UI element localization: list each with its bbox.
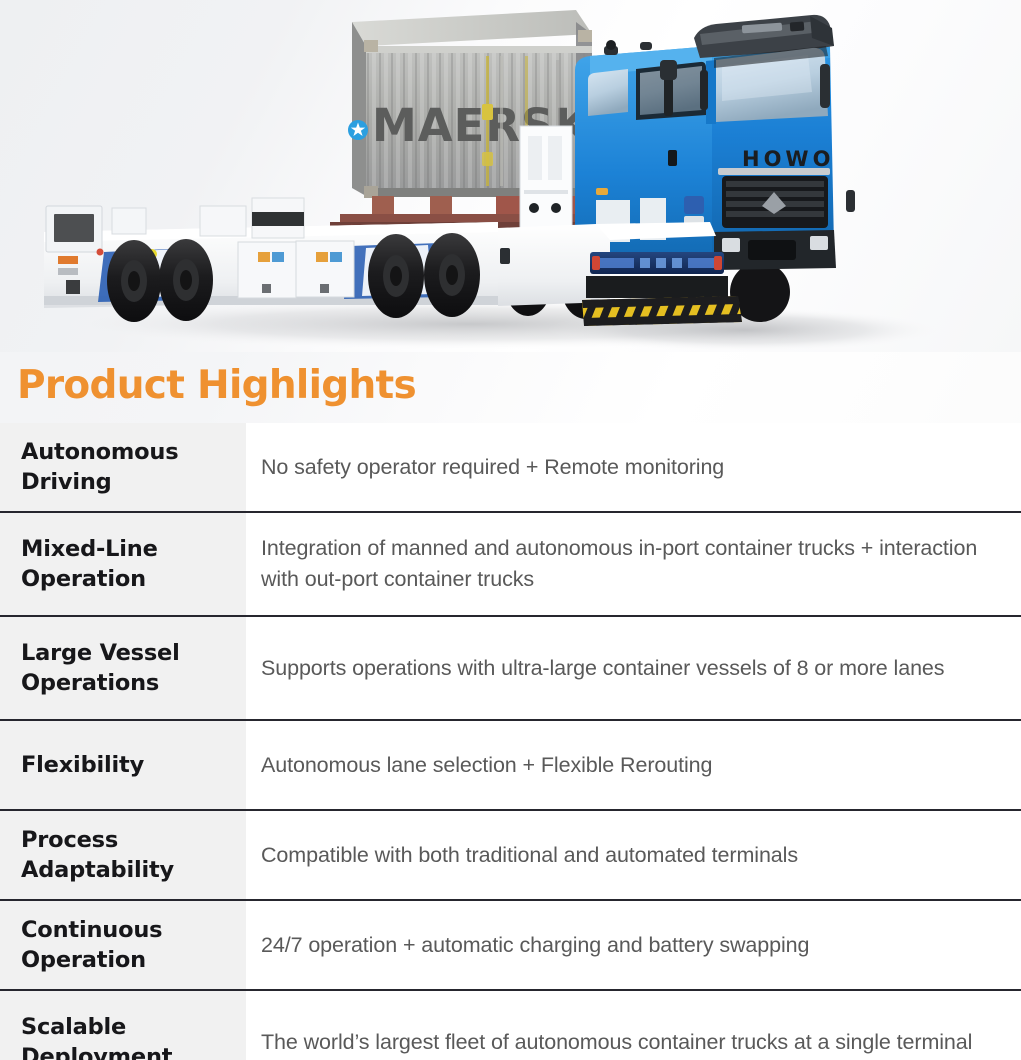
- highlight-label-cell: Flexibility: [0, 721, 246, 809]
- highlight-desc-cell: Integration of manned and autonomous in-…: [246, 513, 1021, 615]
- product-highlights-page: MAERSK: [0, 0, 1021, 1060]
- highlight-desc: No safety operator required + Remote mon…: [261, 452, 724, 483]
- highlight-label: Large Vessel Operations: [21, 638, 236, 698]
- hero-truck-image: MAERSK: [0, 0, 1021, 352]
- table-row: Flexibility Autonomous lane selection + …: [0, 721, 1021, 811]
- highlight-label-cell: Large Vessel Operations: [0, 617, 246, 719]
- table-row: Autonomous Driving No safety operator re…: [0, 423, 1021, 513]
- cab-brand-badge: HOWO: [742, 147, 834, 171]
- highlight-desc-cell: 24/7 operation + automatic charging and …: [246, 901, 1021, 989]
- table-row: Process Adaptability Compatible with bot…: [0, 811, 1021, 901]
- highlight-label: Process Adaptability: [21, 825, 236, 885]
- highlight-label: Mixed-Line Operation: [21, 534, 236, 594]
- highlight-desc: The world’s largest fleet of autonomous …: [261, 1027, 972, 1058]
- equipment-cabinet: [520, 126, 572, 234]
- highlight-label: Scalable Deployment: [21, 1012, 236, 1060]
- highlight-label: Autonomous Driving: [21, 437, 236, 497]
- highlight-desc: Compatible with both traditional and aut…: [261, 840, 798, 871]
- battery-cabinets: [238, 241, 354, 298]
- highlight-label-cell: Autonomous Driving: [0, 423, 246, 511]
- maersk-logo: [348, 120, 368, 140]
- highlight-label: Flexibility: [21, 750, 144, 780]
- highlight-desc: Integration of manned and autonomous in-…: [261, 533, 1007, 595]
- front-grille: [718, 168, 830, 228]
- product-highlights-table: Autonomous Driving No safety operator re…: [0, 423, 1021, 1060]
- table-row: Scalable Deployment The world’s largest …: [0, 991, 1021, 1060]
- table-row: Large Vessel Operations Supports operati…: [0, 617, 1021, 721]
- highlight-desc-cell: Supports operations with ultra-large con…: [246, 617, 1021, 719]
- right-mirror: [820, 64, 830, 108]
- autonomous-truck-illustration: MAERSK: [0, 0, 1021, 352]
- highlight-label-cell: Process Adaptability: [0, 811, 246, 899]
- table-row: Mixed-Line Operation Integration of mann…: [0, 513, 1021, 617]
- highlight-desc: 24/7 operation + automatic charging and …: [261, 930, 809, 961]
- highlight-label: Continuous Operation: [21, 915, 236, 975]
- highlight-label-cell: Mixed-Line Operation: [0, 513, 246, 615]
- highlight-desc-cell: The world’s largest fleet of autonomous …: [246, 991, 1021, 1060]
- table-row: Continuous Operation 24/7 operation + au…: [0, 901, 1021, 991]
- highlight-desc-cell: No safety operator required + Remote mon…: [246, 423, 1021, 511]
- highlight-desc-cell: Compatible with both traditional and aut…: [246, 811, 1021, 899]
- headlight-left: [722, 238, 740, 252]
- page-title: Product Highlights: [17, 363, 416, 409]
- highlight-label-cell: Scalable Deployment: [0, 991, 246, 1060]
- highlight-label-cell: Continuous Operation: [0, 901, 246, 989]
- highlight-desc: Autonomous lane selection + Flexible Rer…: [261, 750, 712, 781]
- headlight-right: [810, 236, 828, 250]
- highlight-desc-cell: Autonomous lane selection + Flexible Rer…: [246, 721, 1021, 809]
- sleeper-window: [588, 69, 628, 116]
- highlight-desc: Supports operations with ultra-large con…: [261, 653, 944, 684]
